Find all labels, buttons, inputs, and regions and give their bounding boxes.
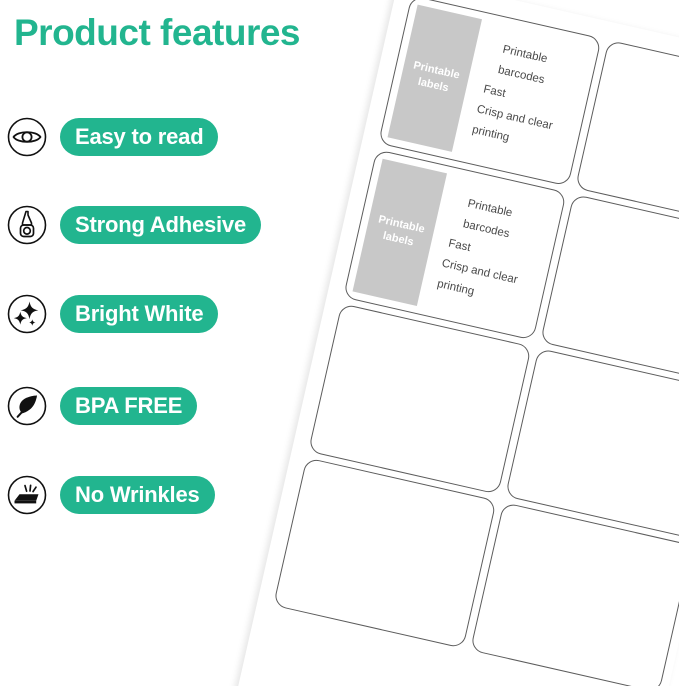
feature-item-easy-to-read: Easy to read [5, 113, 218, 161]
label-cell-printed: Printable labels Printable barcodes Fast… [378, 0, 601, 186]
feature-item-strong-adhesive: Strong Adhesive [5, 201, 261, 249]
eye-icon [5, 115, 49, 159]
feature-item-bright-white: Bright White [5, 290, 218, 338]
smooth-surface-icon [5, 473, 49, 517]
label-block-title-line1: Printable [412, 59, 461, 84]
label-sheet-area: Printable labels Printable barcodes Fast… [0, 0, 679, 686]
label-cell-blank [308, 303, 531, 494]
label-line: Crisp and clear printing [435, 253, 539, 316]
label-grid: Printable labels Printable barcodes Fast… [249, 0, 679, 686]
label-feature-lines: Printable barcodes Fast Crisp and clear … [435, 191, 553, 316]
feature-badge: BPA FREE [60, 387, 197, 425]
feature-item-bpa-free: BPA FREE [5, 382, 197, 430]
label-block-title-line1: Printable [377, 213, 426, 238]
label-cell-blank [539, 194, 679, 385]
feature-badge: Bright White [60, 295, 218, 333]
label-line: Printable barcodes [461, 194, 553, 254]
label-cell-printed: Printable labels Printable barcodes Fast… [343, 149, 566, 340]
leaf-icon [5, 384, 49, 428]
feature-badge: No Wrinkles [60, 476, 215, 514]
label-line: Crisp and clear printing [470, 99, 574, 162]
label-gray-block: Printable labels [353, 159, 447, 306]
label-cell-blank [469, 502, 679, 686]
product-feature-graphic: Printable labels Printable barcodes Fast… [0, 0, 679, 686]
label-block-title-line2: labels [416, 75, 450, 96]
label-line: Fast [481, 79, 578, 121]
label-gray-block: Printable labels [388, 5, 482, 152]
label-line: Fast [446, 233, 543, 275]
glue-bottle-icon [5, 203, 49, 247]
label-feature-lines: Printable barcodes Fast Crisp and clear … [470, 37, 588, 162]
label-block-title-line2: labels [381, 229, 415, 250]
label-cell-blank [273, 457, 496, 648]
feature-item-no-wrinkles: No Wrinkles [5, 471, 215, 519]
label-cell-blank [504, 348, 679, 539]
feature-badge: Strong Adhesive [60, 206, 261, 244]
page-title: Product features [14, 12, 300, 54]
sparkles-icon [5, 292, 49, 336]
label-line: Printable barcodes [496, 40, 588, 100]
feature-badge: Easy to read [60, 118, 218, 156]
label-cell-blank [574, 40, 679, 231]
label-sheet: Printable labels Printable barcodes Fast… [232, 0, 679, 686]
